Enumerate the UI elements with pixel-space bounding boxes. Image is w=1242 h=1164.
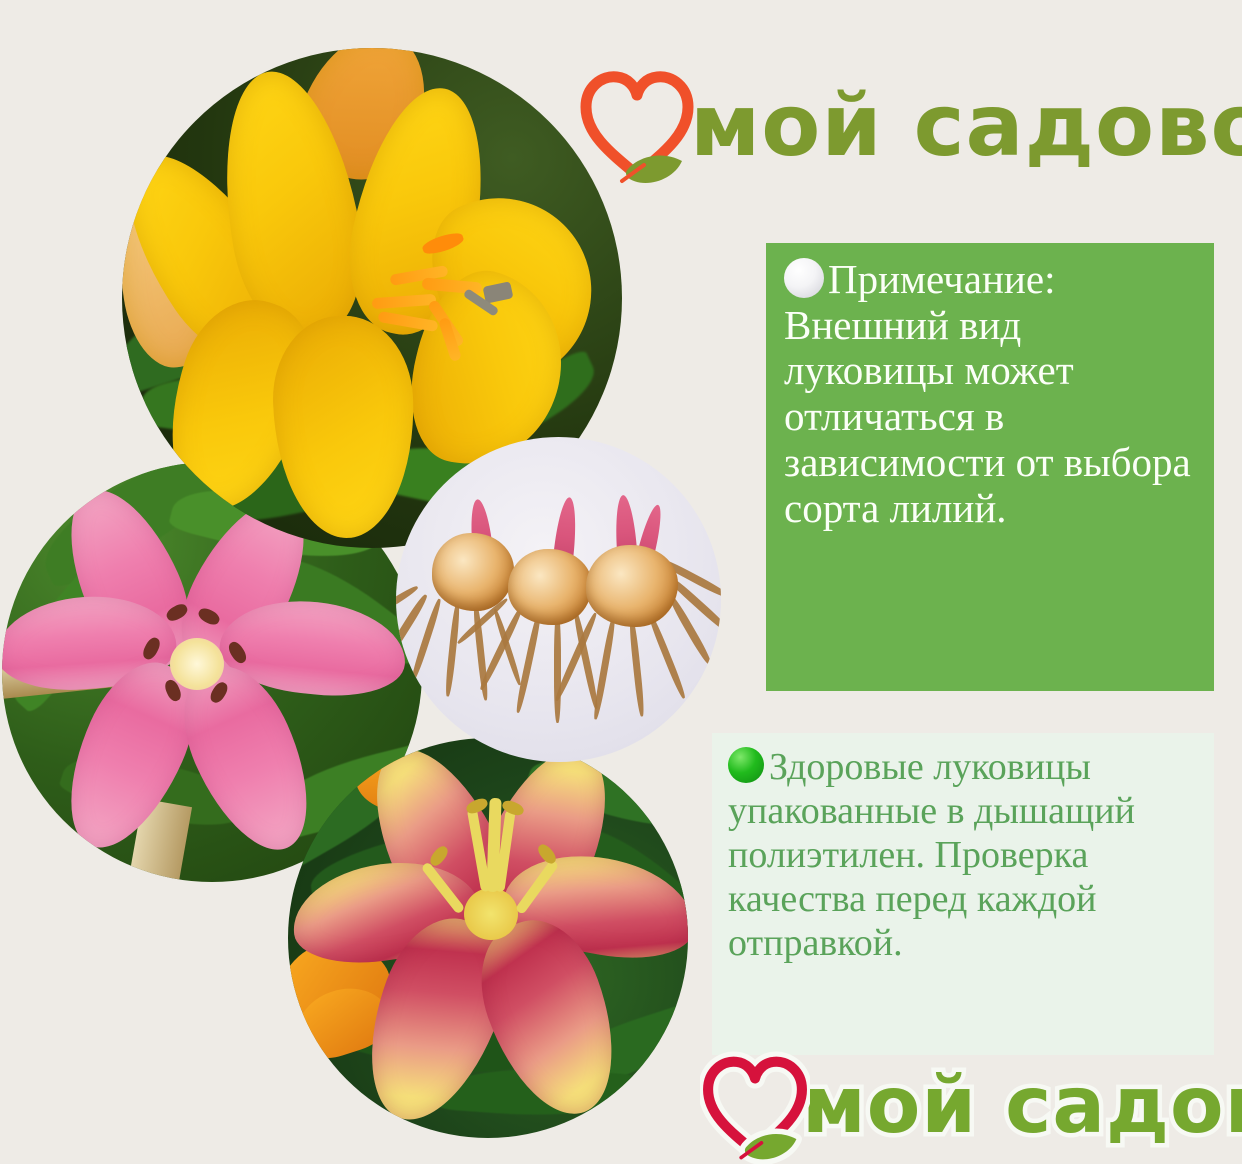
brand-logo-bottom: мой садовод bbox=[700, 1046, 1242, 1164]
notice-text: Примечание: Внешний вид луковицы может о… bbox=[784, 256, 1191, 531]
quality-box: Здоровые луковицы упакованные в дышащий … bbox=[712, 733, 1214, 1055]
logo-wordmark-top: мой садовод bbox=[690, 83, 1242, 169]
notice-box: Примечание: Внешний вид луковицы может о… bbox=[766, 243, 1214, 691]
product-infographic: мой садовод Примечание: Внешний вид луко… bbox=[0, 0, 1242, 1164]
leaf-icon bbox=[622, 155, 682, 183]
logo-wordmark-bottom: мой садовод bbox=[802, 1067, 1242, 1145]
notice-paragraph: Примечание: Внешний вид луковицы может о… bbox=[784, 257, 1198, 531]
quality-paragraph: Здоровые луковицы упакованные в дышащий … bbox=[728, 745, 1200, 965]
white-circle-icon bbox=[784, 258, 824, 298]
photo-lily-bulbs bbox=[396, 437, 721, 762]
leaf-icon bbox=[741, 1134, 796, 1159]
photo-red-yellow-lily bbox=[288, 738, 688, 1138]
quality-text: Здоровые луковицы упакованные в дышащий … bbox=[728, 746, 1135, 964]
logo-mark-top bbox=[578, 63, 696, 188]
green-circle-icon bbox=[728, 747, 764, 783]
logo-mark-bottom bbox=[700, 1049, 810, 1164]
brand-logo-top: мой садовод bbox=[578, 58, 1218, 193]
